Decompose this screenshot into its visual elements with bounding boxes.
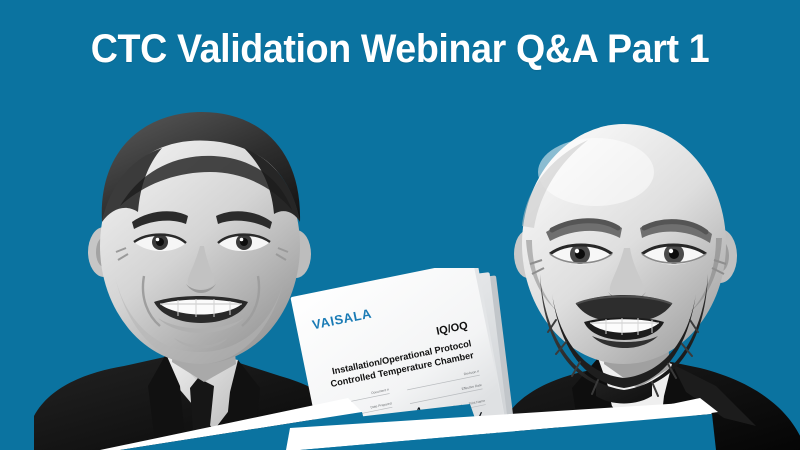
webinar-promo-banner: VAISALA IQ/OQ Installation/Operational P… [0, 0, 800, 450]
protocol-front-page: VAISALA IQ/OQ Installation/Operational P… [290, 268, 508, 450]
protocol-document-stack: VAISALA IQ/OQ Installation/Operational P… [288, 268, 540, 450]
